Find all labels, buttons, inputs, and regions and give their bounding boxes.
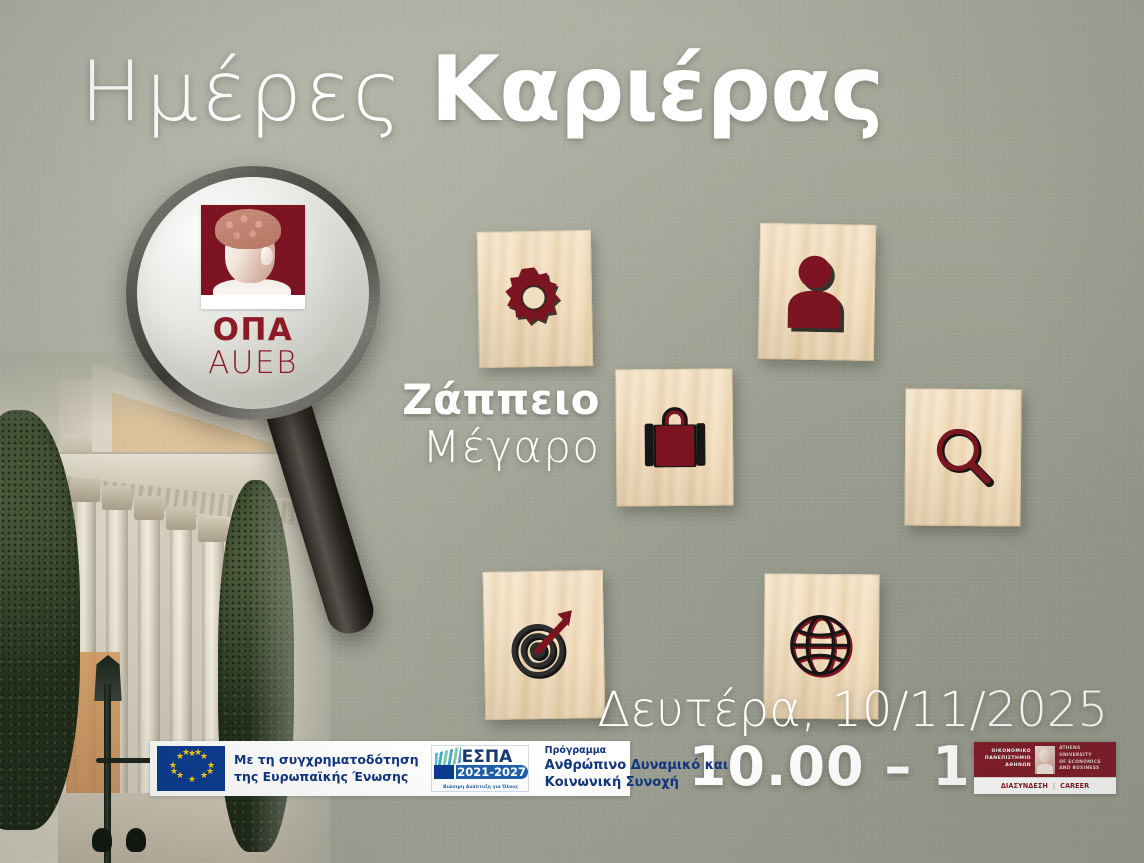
title-light-word: Ημέρες	[80, 43, 404, 140]
poster-title: ΗμέρεςΚαριέρας	[80, 45, 883, 135]
street-lamp-arm	[96, 758, 152, 763]
aueb-statue-logo-icon	[201, 205, 305, 309]
statue-profile	[261, 247, 273, 265]
eu-cofunding-text: Με τη συγχρηματοδότηση της Ευρωπαϊκής Έν…	[234, 752, 419, 785]
aueb-career-office-badge: ΟΙΚΟΝΟΜΙΚΟ ΠΑΝΕΠΙΣΤΗΜΙΟ ΑΘΗΝΩΝ ATHENS UN…	[974, 742, 1116, 794]
badge-en-line-1: ATHENS UNIVERSITY	[1059, 746, 1112, 760]
wooden-block-search	[904, 388, 1021, 526]
magnifier-icon	[926, 420, 1001, 495]
venue-line-2: Μέγαρο	[300, 425, 600, 472]
globe-icon	[783, 608, 860, 685]
badge-en-line-3: AND BUSINESS	[1059, 766, 1112, 773]
badge-footer: ΔΙΑΣΥΝΔΕΣΗ | CAREER	[974, 777, 1116, 794]
badge-gr-line-3: ΑΘΗΝΩΝ	[978, 763, 1031, 770]
wooden-block-target	[483, 570, 606, 720]
badge-english-name: ATHENS UNIVERSITY OF ECONOMICS AND BUSIN…	[1059, 746, 1112, 773]
programme-label: Πρόγραμμα	[545, 745, 728, 757]
magnifier-lens: ΟΠΑ AUEB	[137, 177, 369, 409]
badge-header: ΟΙΚΟΝΟΜΙΚΟ ΠΑΝΕΠΙΣΤΗΜΙΟ ΑΘΗΝΩΝ ATHENS UN…	[974, 742, 1116, 777]
espa-tagline: Βιώσιμη Ανάπτυξη για Όλους	[434, 785, 528, 790]
person-icon	[781, 251, 852, 332]
programme-block: Πρόγραμμα Ανθρώπινο Δυναμικό και Κοινωνι…	[545, 745, 728, 791]
venue-text: Ζάππειο Μέγαρο	[300, 378, 600, 471]
badge-footer-separator: |	[1053, 782, 1055, 790]
eu-cofunding-line-1: Με τη συγχρηματοδότηση	[234, 752, 419, 769]
column-capital	[70, 478, 100, 502]
eu-funding-banner: ★ ★ ★ ★ ★ ★ ★ ★ ★ ★ ★ ★ Με τη συγχρηματο…	[150, 741, 630, 796]
badge-footer-greek: ΔΙΑΣΥΝΔΕΣΗ	[1001, 782, 1048, 790]
gear-icon	[495, 259, 574, 338]
espa-wordmark: ΕΣΠΑ	[462, 747, 513, 767]
espa-logo: ΕΣΠΑ 2021-2027 Βιώσιμη Ανάπτυξη για Όλου…	[431, 745, 529, 792]
badge-footer-english: CAREER	[1060, 782, 1089, 790]
wooden-block-briefcase	[615, 368, 733, 506]
badge-gr-line-1: ΟΙΚΟΝΟΜΙΚΟ	[978, 749, 1031, 756]
badge-statue-icon	[1035, 746, 1055, 774]
wooden-block-person	[758, 223, 876, 361]
target-icon	[503, 604, 584, 685]
event-date: Δευτέρα, 10/11/2025	[597, 686, 1108, 735]
badge-gr-line-2: ΠΑΝΕΠΙΣΤΗΜΙΟ	[978, 756, 1031, 763]
title-bold-word: Καριέρας	[430, 37, 883, 142]
programme-line-2: Κοινωνική Συνοχή	[545, 775, 728, 792]
programme-line-1: Ανθρώπινο Δυναμικό και	[545, 758, 728, 775]
aueb-logo-latin: AUEB	[208, 347, 298, 380]
badge-greek-name: ΟΙΚΟΝΟΜΙΚΟ ΠΑΝΕΠΙΣΤΗΜΙΟ ΑΘΗΝΩΝ	[978, 749, 1031, 770]
espa-mini-eu-flag-icon	[434, 765, 454, 779]
career-days-poster: ΖΑΠΠΕΙΟΝ ΗμέρεςΚαριέρας	[0, 0, 1144, 863]
briefcase-icon	[637, 401, 712, 474]
street-lamp-bulb	[92, 828, 112, 852]
statue-hair	[215, 209, 281, 249]
statue-base	[201, 295, 305, 309]
wooden-block-gear	[477, 230, 593, 368]
espa-period: 2021-2027	[456, 765, 528, 779]
street-lamp-bulb	[126, 828, 146, 852]
aueb-logo-greek: ΟΠΑ	[213, 315, 294, 346]
eu-flag-icon: ★ ★ ★ ★ ★ ★ ★ ★ ★ ★ ★ ★	[157, 746, 225, 791]
eu-cofunding-line-2: της Ευρωπαϊκής Ένωσης	[234, 769, 419, 786]
venue-line-1: Ζάππειο	[300, 378, 600, 423]
